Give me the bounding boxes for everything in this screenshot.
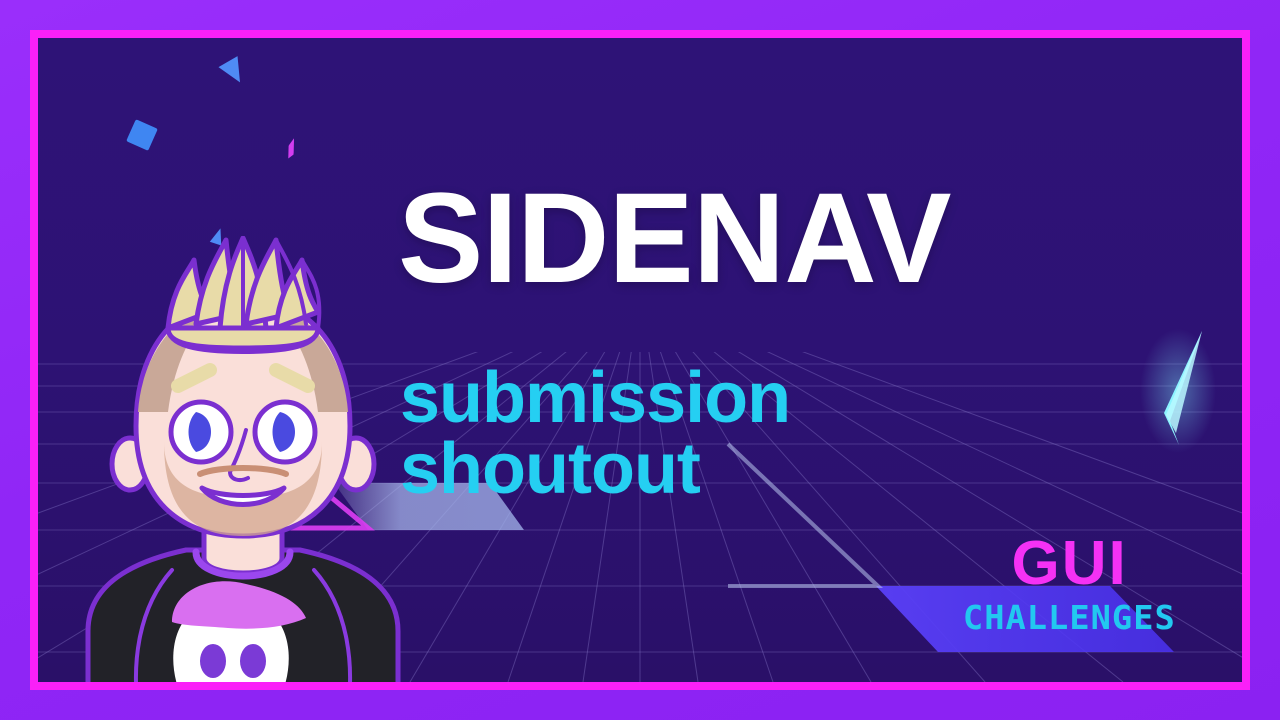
confetti-square-blue: [126, 119, 158, 151]
avatar: [68, 236, 418, 682]
subtitle-line-1: submission: [400, 363, 790, 434]
logo-challenges-text: CHALLENGES: [963, 601, 1176, 634]
content-card: SIDENAV submission shoutout GUI CHALLENG…: [38, 38, 1242, 682]
subtitle: submission shoutout: [400, 363, 790, 504]
video-thumbnail: SIDENAV submission shoutout GUI CHALLENG…: [0, 0, 1280, 720]
logo-gui-text: GUI: [965, 533, 1174, 595]
cyan-shard-icon: [1136, 313, 1226, 463]
gui-challenges-logo: GUI CHALLENGES: [965, 533, 1174, 634]
subtitle-line-2: shoutout: [400, 434, 790, 505]
confetti-sliver-magenta: [286, 137, 298, 159]
page-title: SIDENAV: [398, 175, 951, 303]
confetti-triangle-blue: [218, 56, 249, 88]
